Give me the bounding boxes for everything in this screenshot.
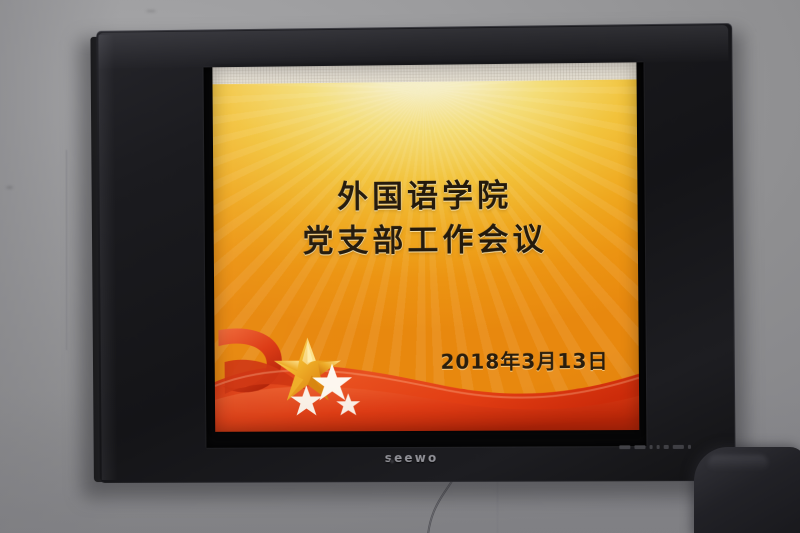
chair-back [694, 447, 800, 533]
chair-highlight [708, 455, 768, 471]
slide-date: 2018年3月13日 [440, 345, 608, 375]
wall-scuff [146, 10, 156, 12]
wall-seam [66, 150, 67, 350]
photo-scene: 外国语学院 党支部工作会议 2018年3月13日 seewo [0, 0, 800, 533]
wall-scuff [6, 186, 13, 189]
slide-title: 外国语学院 党支部工作会议 [213, 173, 638, 265]
flat-panel-display[interactable]: 外国语学院 党支部工作会议 2018年3月13日 seewo [88, 23, 735, 483]
slide-title-line-2: 党支部工作会议 [214, 217, 638, 264]
ir-sensor-icon [390, 459, 395, 464]
presentation-slide[interactable]: 外国语学院 党支部工作会议 2018年3月13日 [212, 62, 639, 431]
bezel-marking [619, 445, 691, 449]
slide-title-line-1: 外国语学院 [213, 173, 637, 221]
